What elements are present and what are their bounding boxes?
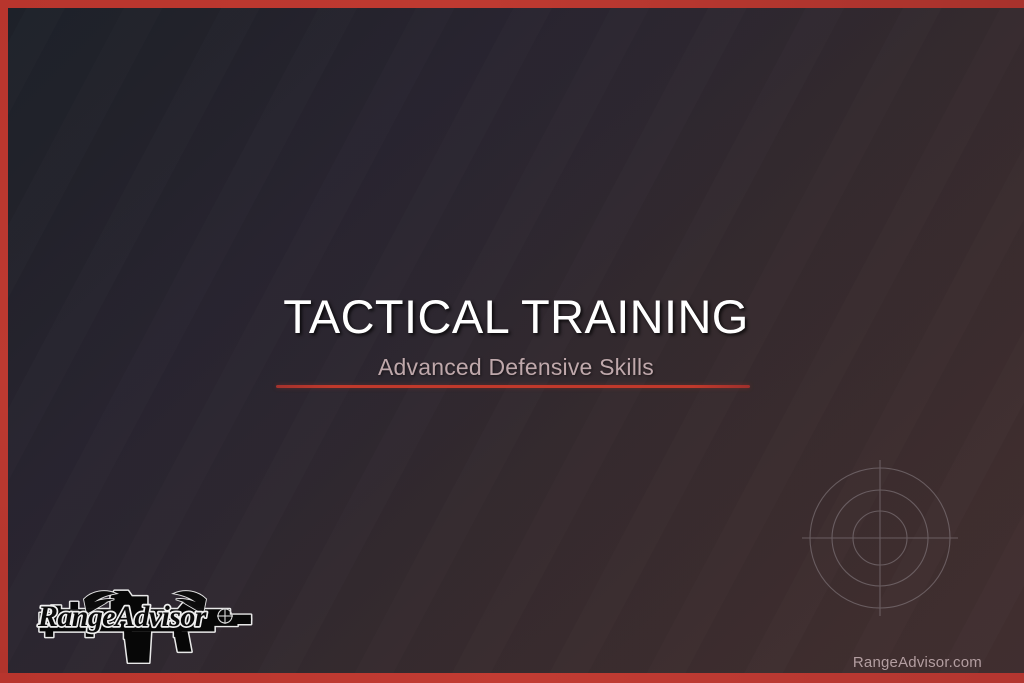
slide-border-bottom bbox=[0, 673, 1024, 683]
page-subtitle: Advanced Defensive Skills bbox=[8, 353, 1024, 381]
logo-wordmark: RangeAdvisor bbox=[37, 600, 207, 633]
page-title: TACTICAL TRAINING bbox=[8, 289, 1024, 345]
slide-border-top bbox=[0, 0, 1024, 8]
accent-divider bbox=[276, 385, 750, 388]
slide-content-area: TACTICAL TRAINING Advanced Defensive Ski… bbox=[8, 8, 1024, 673]
slide-border-left bbox=[0, 0, 8, 683]
brand-logo: RangeAdvisor RangeAdvisor bbox=[28, 564, 278, 664]
slide-canvas: TACTICAL TRAINING Advanced Defensive Ski… bbox=[0, 0, 1024, 683]
crosshair-target-icon bbox=[800, 458, 960, 618]
footer-url: RangeAdvisor.com bbox=[853, 654, 982, 672]
title-block: TACTICAL TRAINING Advanced Defensive Ski… bbox=[8, 289, 1024, 381]
